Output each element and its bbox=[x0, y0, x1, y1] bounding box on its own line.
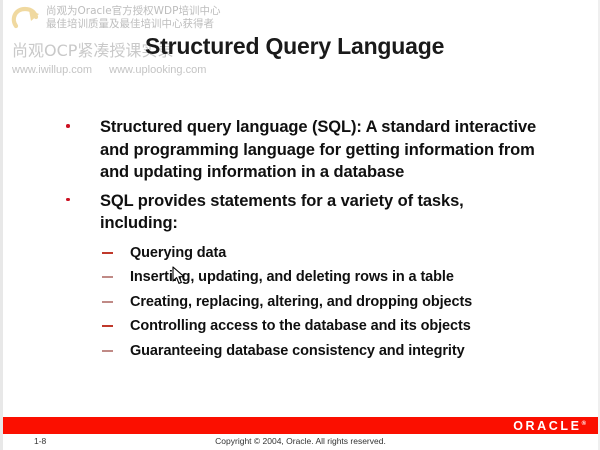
footer-brand-bar: ORACLE® bbox=[3, 417, 598, 434]
copyright-text: Copyright © 2004, Oracle. All rights res… bbox=[3, 436, 598, 446]
watermark-url-1: www.iwillup.com bbox=[12, 64, 92, 76]
bullet-text: Structured query language (SQL): A stand… bbox=[100, 118, 536, 181]
sub-bullet-item: Inserting, updating, and deleting rows i… bbox=[60, 265, 540, 290]
sub-bullet-text: Inserting, updating, and deleting rows i… bbox=[130, 269, 454, 285]
oracle-logo: ORACLE® bbox=[513, 419, 586, 433]
watermark-chinese-line1: 尚观为Oracle官方授权WDP培训中心 最佳培训质量及最佳培训中心获得者 bbox=[46, 5, 220, 31]
sub-bullet-text: Creating, replacing, altering, and dropp… bbox=[130, 294, 472, 310]
sub-bullet-list: Querying data Inserting, updating, and d… bbox=[60, 241, 540, 364]
bullet-dot-icon bbox=[66, 198, 70, 202]
sub-bullet-text: Guaranteeing database consistency and in… bbox=[130, 343, 465, 359]
sub-bullet-text: Controlling access to the database and i… bbox=[130, 318, 471, 334]
watermark-cn-text-2: 最佳培训质量及最佳培训中心获得者 bbox=[46, 18, 220, 31]
footer-info-strip: 1-8 Copyright © 2004, Oracle. All rights… bbox=[3, 434, 598, 450]
sub-bullet-item: Controlling access to the database and i… bbox=[60, 314, 540, 339]
watermark-url-2: www.uplooking.com bbox=[109, 64, 206, 76]
dash-icon bbox=[102, 276, 113, 278]
bullet-item: Structured query language (SQL): A stand… bbox=[60, 116, 540, 184]
page-title: Structured Query Language bbox=[145, 33, 444, 60]
bullet-text: SQL provides statements for a variety of… bbox=[100, 192, 464, 233]
bullet-dot-icon bbox=[66, 124, 70, 128]
watermark-cn-text-1: 尚观为Oracle官方授权WDP培训中心 bbox=[46, 5, 220, 18]
sub-bullet-item: Querying data bbox=[60, 241, 540, 266]
sub-bullet-item: Creating, replacing, altering, and dropp… bbox=[60, 290, 540, 315]
sub-bullet-item: Guaranteeing database consistency and in… bbox=[60, 339, 540, 364]
presentation-slide: 尚观为Oracle官方授权WDP培训中心 最佳培训质量及最佳培训中心获得者 尚观… bbox=[0, 0, 600, 450]
dash-icon bbox=[102, 252, 113, 254]
sub-bullet-text: Querying data bbox=[130, 245, 226, 261]
watermark-urls: www.iwillup.com www.uplooking.com bbox=[12, 63, 220, 77]
dash-icon bbox=[102, 325, 113, 327]
dash-icon bbox=[102, 350, 113, 352]
curved-arrow-icon bbox=[10, 5, 42, 33]
bullet-item: SQL provides statements for a variety of… bbox=[60, 190, 540, 235]
dash-icon bbox=[102, 301, 113, 303]
oracle-wordmark: ORACLE bbox=[513, 419, 581, 433]
registered-mark: ® bbox=[582, 421, 586, 427]
slide-body: Structured query language (SQL): A stand… bbox=[60, 116, 540, 363]
